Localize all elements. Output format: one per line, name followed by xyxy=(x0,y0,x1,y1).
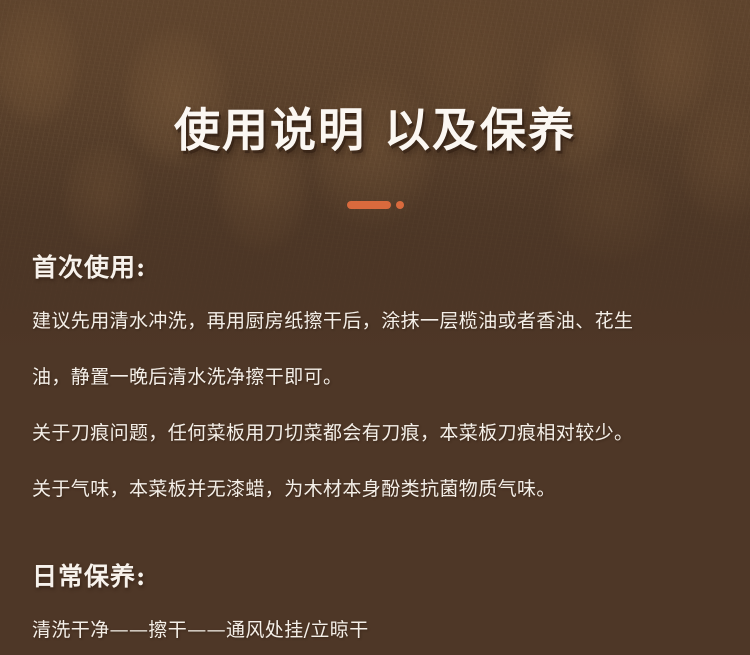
body-line: 建议先用清水冲洗，再用厨房纸擦干后，涂抹一层榄油或者香油、花生 xyxy=(32,303,722,340)
divider-dot-icon xyxy=(396,201,404,209)
instruction-sections: 首次使用: 建议先用清水冲洗，再用厨房纸擦干后，涂抹一层榄油或者香油、花生 油，… xyxy=(32,248,722,655)
section-divider xyxy=(0,201,750,209)
section-heading-first-use: 首次使用: xyxy=(32,248,722,284)
section-body-first-use: 建议先用清水冲洗，再用厨房纸擦干后，涂抹一层榄油或者香油、花生 油，静置一晚后清… xyxy=(32,303,722,508)
title-block: 使用说明 以及保养 xyxy=(0,103,750,157)
body-line: 关于刀痕问题，任何菜板用刀切菜都会有刀痕，本菜板刀痕相对较少。 xyxy=(32,415,722,452)
section-heading-daily-care: 日常保养: xyxy=(32,557,722,593)
body-line: 清洗干净——擦干——通风处挂/立晾干 xyxy=(32,612,722,649)
body-line: 关于气味，本菜板并无漆蜡，为木材本身酚类抗菌物质气味。 xyxy=(32,471,722,508)
divider-bar-icon xyxy=(347,201,391,209)
body-line: 油，静置一晚后清水洗净擦干即可。 xyxy=(32,359,722,396)
page-title: 使用说明 以及保养 xyxy=(174,103,576,157)
section-first-use: 首次使用: 建议先用清水冲洗，再用厨房纸擦干后，涂抹一层榄油或者香油、花生 油，… xyxy=(32,248,722,508)
instructions-page: 使用说明 以及保养 首次使用: 建议先用清水冲洗，再用厨房纸擦干后，涂抹一层榄油… xyxy=(0,0,750,655)
section-body-daily-care: 清洗干净——擦干——通风处挂/立晾干 xyxy=(32,612,722,649)
page-content: 使用说明 以及保养 首次使用: 建议先用清水冲洗，再用厨房纸擦干后，涂抹一层榄油… xyxy=(0,0,750,655)
section-daily-care: 日常保养: 清洗干净——擦干——通风处挂/立晾干 xyxy=(32,557,722,649)
